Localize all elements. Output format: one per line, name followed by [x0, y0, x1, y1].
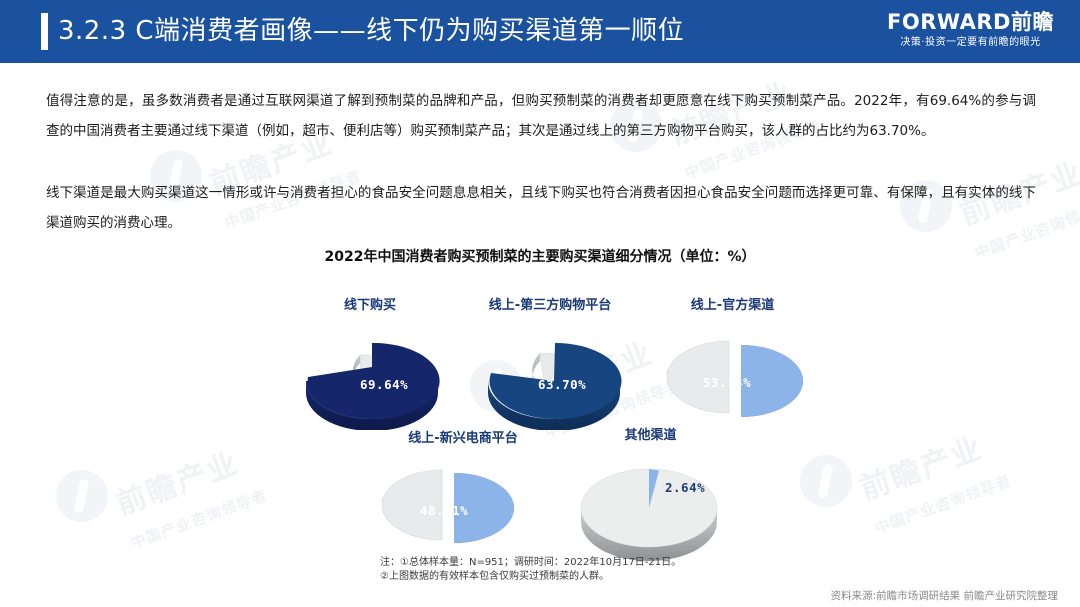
header-accent-bar	[41, 13, 48, 50]
pie-value-other-channels: 2.64%	[665, 480, 705, 495]
chart-title: 2022年中国消费者购买预制菜的主要购买渠道细分情况（单位：%）	[0, 246, 1080, 266]
brand-logo: FORWARD前瞻 决策·投资一定要有前瞻的眼光	[887, 10, 1054, 50]
pie-label-official-channel: 线上-官方渠道	[645, 294, 820, 313]
pie-label-offline-purchase: 线下购买	[280, 294, 460, 313]
source-attribution: 资料来源:前瞻市场调研结果 前瞻产业研究院整理	[831, 588, 1058, 603]
page-title: 3.2.3 C端消费者画像——线下仍为购买渠道第一顺位	[58, 12, 684, 51]
pie-chart-official-channel: 53.14%	[645, 325, 835, 439]
brand-logo-tagline: 决策·投资一定要有前瞻的眼光	[887, 36, 1054, 50]
brand-logo-name: FORWARD前瞻	[887, 10, 1054, 34]
pie-chart-offline-purchase: 69.64%	[278, 325, 468, 434]
pie-label-third-party-platform: 线上-第三方购物平台	[455, 294, 645, 313]
pie-value-offline-purchase: 69.64%	[360, 377, 408, 392]
body-paragraph-1: 值得注意的是，虽多数消费者是通过互联网渠道了解到预制菜的品牌和产品，但购买预制菜…	[46, 86, 1036, 146]
pie-chart-other-channels: 2.64%	[555, 452, 745, 566]
body-paragraph-2: 线下渠道是最大购买渠道这一情形或许与消费者担心的食品安全问题息息相关，且线下购买…	[46, 178, 1036, 238]
slide-content: 值得注意的是，虽多数消费者是通过互联网渠道了解到预制菜的品牌和产品，但购买预制菜…	[0, 0, 1080, 607]
pie-chart-emerging-ecommerce: 48.51%	[370, 455, 560, 569]
pie-chart-third-party-platform: 63.70%	[460, 325, 650, 434]
pie-value-official-channel: 53.14%	[703, 375, 751, 390]
pie-label-other-channels: 其他渠道	[563, 424, 738, 443]
chart-footnote: 注：①总体样本量：N=951；调研时间：2022年10月17日-21日。 ②上图…	[380, 556, 681, 584]
pie-value-emerging-ecommerce: 48.51%	[420, 503, 468, 518]
page-header: 3.2.3 C端消费者画像——线下仍为购买渠道第一顺位 FORWARD前瞻 决策…	[0, 0, 1080, 63]
pie-value-third-party-platform: 63.70%	[538, 377, 586, 392]
pie-svg	[555, 452, 745, 562]
pie-label-emerging-ecommerce: 线上-新兴电商平台	[373, 427, 553, 446]
